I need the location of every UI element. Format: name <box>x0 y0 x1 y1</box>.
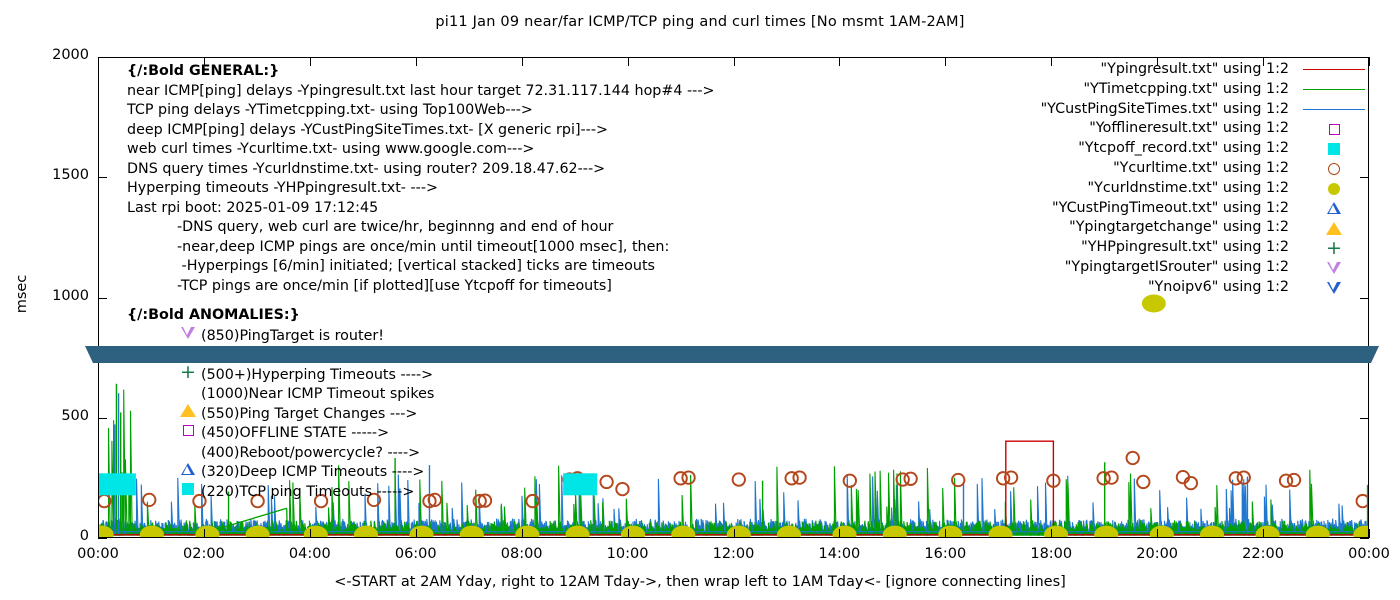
curl-marker <box>1357 495 1368 507</box>
y-axis-label: msec <box>14 254 30 334</box>
y-tick-mark-right <box>1360 298 1369 299</box>
anomaly-label: (850)PingTarget is router! <box>201 327 384 343</box>
legend-key <box>1301 179 1367 198</box>
x-tick-label: 12:00 <box>694 546 774 562</box>
anomaly-symbol: + <box>175 365 201 385</box>
curl-marker <box>1137 476 1149 488</box>
triangle-down-blue-icon <box>1327 282 1341 294</box>
overlay-band-shape <box>85 346 1379 363</box>
connecting-line <box>287 508 288 533</box>
x-tick-mark-top <box>98 57 99 66</box>
anomaly-label: (550)Ping Target Changes ---> <box>201 405 417 421</box>
anomaly-item: (550)Ping Target Changes ---> <box>127 404 434 424</box>
legend-key <box>1301 60 1367 79</box>
x-tick-label: 02:00 <box>164 546 244 562</box>
legend-label: "YpingtargetISrouter" using 1:2 <box>1065 258 1289 278</box>
tcp-timeout-block <box>563 473 597 495</box>
y-tick-mark-right <box>1360 538 1369 539</box>
x-tick-label: 08:00 <box>482 546 562 562</box>
curl-marker <box>682 471 694 483</box>
legend-entry[interactable]: "YHPpingresult.txt" using 1:2+ <box>1041 238 1367 258</box>
anomaly-symbol <box>175 462 201 482</box>
general-line: Last rpi boot: 2025-01-09 17:12:45 <box>127 199 714 219</box>
general-line: -Hyperpings [6/min] initiated; [vertical… <box>127 257 714 277</box>
legend-line-swatch <box>1303 69 1365 70</box>
anomaly-item: (400)Reboot/powercycle? ----> <box>127 443 434 463</box>
general-line: -TCP pings are once/min [if plotted][use… <box>127 277 714 297</box>
x-tick-mark <box>204 529 205 538</box>
anomaly-label: (450)OFFLINE STATE -----> <box>201 425 389 441</box>
x-tick-label: 14:00 <box>799 546 879 562</box>
x-axis-caption: <-START at 2AM Yday, right to 12AM Tday-… <box>0 574 1400 590</box>
anomaly-symbol <box>175 404 201 424</box>
x-tick-label: 06:00 <box>376 546 456 562</box>
curl-marker <box>904 473 916 485</box>
anomaly-item: (320)Deep ICMP Timeouts ----> <box>127 462 434 482</box>
legend-label: "Ypingresult.txt" using 1:2 <box>1101 60 1289 80</box>
legend-entry[interactable]: "Ypingtargetchange" using 1:2 <box>1041 218 1367 238</box>
y-tick-label: 500 <box>9 408 89 424</box>
legend-label: "YCustPingSiteTimes.txt" using 1:2 <box>1041 100 1289 120</box>
x-tick-mark-top <box>945 57 946 66</box>
y-tick-mark <box>98 298 107 299</box>
general-line: DNS query times -Ycurldnstime.txt- using… <box>127 160 714 180</box>
x-tick-label: 00:00 <box>1329 546 1400 562</box>
legend-key <box>1301 100 1367 119</box>
x-tick-label: 22:00 <box>1223 546 1303 562</box>
x-tick-mark <box>1157 529 1158 538</box>
overlay-selection-band[interactable] <box>85 346 1379 363</box>
legend-entry[interactable]: "Ycurldnstime.txt" using 1:2 <box>1041 179 1367 199</box>
legend-entry[interactable]: "Ynoipv6" using 1:2 <box>1041 278 1367 298</box>
x-tick-mark <box>1369 529 1370 538</box>
y-tick-mark-right <box>1360 57 1369 58</box>
x-tick-label: 04:00 <box>270 546 350 562</box>
legend-label: "YTimetcpping.txt" using 1:2 <box>1083 80 1289 100</box>
general-line: TCP ping delays -YTimetcpping.txt- using… <box>127 101 714 121</box>
circle-filled-icon <box>1328 183 1340 195</box>
curl-marker <box>1005 471 1017 483</box>
x-tick-mark <box>1051 529 1052 538</box>
curl-marker <box>1105 471 1117 483</box>
legend-key <box>1301 140 1367 159</box>
triangle-up-filled-icon <box>180 404 196 417</box>
square-open-icon <box>1329 124 1340 135</box>
anomalies-heading: {/:Bold ANOMALIES:} <box>127 306 434 326</box>
y-tick-mark <box>98 418 107 419</box>
legend-entry[interactable]: "YCustPingSiteTimes.txt" using 1:2 <box>1041 100 1367 120</box>
legend-key <box>1301 278 1367 297</box>
triangle-up-filled-icon <box>1326 222 1342 235</box>
curl-marker <box>1288 474 1300 486</box>
anomaly-label: (500+)Hyperping Timeouts ----> <box>201 366 433 382</box>
square-filled-icon <box>182 483 194 495</box>
legend-key: + <box>1301 239 1367 258</box>
curl-marker <box>793 471 805 483</box>
anomaly-symbol <box>175 443 201 463</box>
legend-key <box>1301 258 1367 277</box>
anomaly-symbol <box>175 482 201 502</box>
x-tick-label: 10:00 <box>588 546 668 562</box>
anomaly-symbol <box>175 423 201 443</box>
legend-label: "Ycurltime.txt" using 1:2 <box>1113 159 1289 179</box>
curl-marker <box>1127 452 1139 464</box>
general-line: -near,deep ICMP pings are once/min until… <box>127 238 714 258</box>
general-heading: {/:Bold GENERAL:} <box>127 62 714 82</box>
anomaly-item: (1000)Near ICMP Timeout spikes <box>127 384 434 404</box>
curl-marker <box>733 473 745 485</box>
x-tick-mark <box>1263 529 1264 538</box>
legend-label: "YHPpingresult.txt" using 1:2 <box>1081 238 1289 258</box>
legend-label: "YCustPingTimeout.txt" using 1:2 <box>1052 199 1289 219</box>
legend-line-swatch <box>1303 89 1365 90</box>
general-line: deep ICMP[ping] delays -YCustPingSiteTim… <box>127 121 714 141</box>
legend-entry[interactable]: "YTimetcpping.txt" using 1:2 <box>1041 80 1367 100</box>
legend-label: "Ypingtargetchange" using 1:2 <box>1069 218 1289 238</box>
y-tick-mark-right <box>1360 418 1369 419</box>
square-open-icon <box>183 425 194 436</box>
legend-entry[interactable]: "Ytcpoff_record.txt" using 1:2 <box>1041 139 1367 159</box>
general-line: web curl times -Ycurltime.txt- using www… <box>127 140 714 160</box>
anomalies-text-block: {/:Bold ANOMALIES:}(850)PingTarget is ro… <box>127 306 434 501</box>
curl-marker <box>844 475 856 487</box>
legend-key <box>1301 120 1367 139</box>
y-tick-mark <box>98 538 107 539</box>
legend-key <box>1301 219 1367 238</box>
x-tick-mark <box>310 529 311 538</box>
plus-icon: + <box>1326 242 1342 255</box>
curl-marker <box>952 474 964 486</box>
curl-marker <box>616 483 628 495</box>
legend-label: "Ycurldnstime.txt" using 1:2 <box>1088 179 1289 199</box>
legend-entry[interactable]: "Ypingresult.txt" using 1:2 <box>1041 60 1367 80</box>
y-tick-mark <box>98 57 107 58</box>
x-tick-mark-top <box>839 57 840 66</box>
x-tick-mark <box>522 529 523 538</box>
legend-entry[interactable]: "YpingtargetISrouter" using 1:2 <box>1041 258 1367 278</box>
x-tick-mark-top <box>734 57 735 66</box>
x-tick-mark <box>945 529 946 538</box>
page-title: pi11 Jan 09 near/far ICMP/TCP ping and c… <box>0 14 1400 30</box>
circle-open-icon <box>1328 163 1340 175</box>
x-tick-mark-top <box>1369 57 1370 66</box>
x-tick-label: 20:00 <box>1117 546 1197 562</box>
general-text-block: {/:Bold GENERAL:}near ICMP[ping] delays … <box>127 62 714 296</box>
x-tick-label: 18:00 <box>1011 546 1091 562</box>
curl-marker <box>600 476 612 488</box>
anomaly-item: +(500+)Hyperping Timeouts ----> <box>127 365 434 385</box>
y-tick-label: 0 <box>9 528 89 544</box>
anomaly-item: (450)OFFLINE STATE -----> <box>127 423 434 443</box>
legend-key <box>1301 80 1367 99</box>
x-tick-label: 00:00 <box>58 546 138 562</box>
x-tick-label: 16:00 <box>905 546 985 562</box>
anomaly-symbol <box>175 384 201 404</box>
legend-key <box>1301 159 1367 178</box>
legend-entry[interactable]: "Yofflineresult.txt" using 1:2 <box>1041 119 1367 139</box>
triangle-up-open-icon <box>1327 202 1341 214</box>
x-tick-mark <box>839 529 840 538</box>
anomaly-item: (850)PingTarget is router! <box>127 326 434 346</box>
general-line: near ICMP[ping] delays -Ypingresult.txt … <box>127 82 714 102</box>
y-tick-mark <box>98 177 107 178</box>
triangle-down-magenta-icon <box>1327 262 1341 274</box>
x-tick-mark <box>628 529 629 538</box>
y-tick-label: 1500 <box>9 167 89 183</box>
square-filled-icon <box>1328 143 1340 155</box>
legend-entry[interactable]: "YCustPingTimeout.txt" using 1:2 <box>1041 199 1367 219</box>
legend-entry[interactable]: "Ycurltime.txt" using 1:2 <box>1041 159 1367 179</box>
x-tick-mark <box>98 529 99 538</box>
anomaly-item: (220)TCP ping Timeouts -----> <box>127 482 434 502</box>
x-tick-mark <box>416 529 417 538</box>
legend-label: "Ytcpoff_record.txt" using 1:2 <box>1078 139 1289 159</box>
legend-label: "Ynoipv6" using 1:2 <box>1148 278 1289 298</box>
x-tick-mark <box>734 529 735 538</box>
anomaly-label: (220)TCP ping Timeouts -----> <box>201 483 414 499</box>
general-line: Hyperping timeouts -YHPpingresult.txt- -… <box>127 179 714 199</box>
y-tick-label: 2000 <box>9 47 89 63</box>
legend-line-swatch <box>1303 109 1365 110</box>
legend: "Ypingresult.txt" using 1:2"YTimetcpping… <box>1041 60 1367 298</box>
triangle-up-open-icon <box>181 463 195 475</box>
triangle-down-magenta-icon <box>181 327 195 339</box>
anomaly-label: (320)Deep ICMP Timeouts ----> <box>201 464 424 480</box>
anomaly-label: (1000)Near ICMP Timeout spikes <box>201 386 434 402</box>
anomaly-symbol <box>175 326 201 346</box>
plus-icon: + <box>180 366 196 379</box>
legend-key <box>1301 199 1367 218</box>
legend-label: "Yofflineresult.txt" using 1:2 <box>1089 119 1289 139</box>
general-line: -DNS query, web curl are twice/hr, begin… <box>127 218 714 238</box>
anomaly-label: (400)Reboot/powercycle? ----> <box>201 444 420 460</box>
